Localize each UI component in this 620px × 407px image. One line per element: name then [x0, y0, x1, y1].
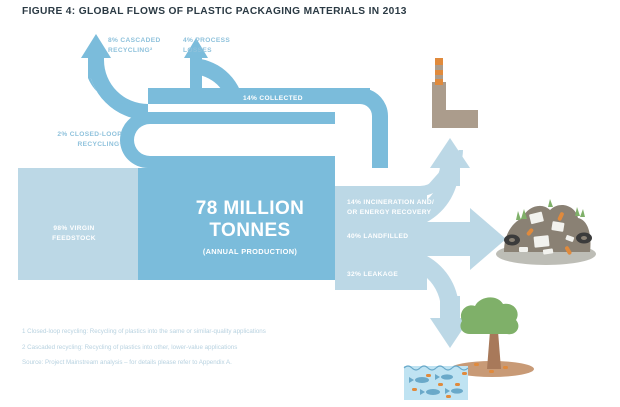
label-virgin-feedstock: 98% VIRGIN FEEDSTOCK [28, 224, 120, 243]
tree-icon [460, 297, 518, 369]
label-closed-loop-recycling: 2% CLOSED-LOOP RECYCLING¹ [22, 130, 122, 149]
figure-container: FIGURE 4: GLOBAL FLOWS OF PLASTIC PACKAG… [0, 0, 620, 407]
annual-production-label: 78 MILLION TONNES (ANNUAL PRODUCTION) [150, 198, 350, 256]
process-losses-connector [190, 80, 202, 88]
label-leakage: 32% LEAKAGE [347, 270, 398, 280]
footnote-1: 1 Closed-loop recycling: Recycling of pl… [22, 327, 292, 337]
footnote-source: Source: Project Mainstream analysis – fo… [22, 358, 292, 368]
factory-incinerator-icon [432, 58, 478, 128]
footnote-2: 2 Cascaded recycling: Recycling of plast… [22, 343, 292, 353]
production-headline: 78 MILLION TONNES [150, 198, 350, 242]
footnotes: 1 Closed-loop recycling: Recycling of pl… [22, 327, 292, 368]
label-collected-for-recycling: 14% COLLECTED FOR RECYCLING [243, 94, 303, 113]
closed-loop-recycling-flow [120, 112, 335, 168]
production-sublabel: (ANNUAL PRODUCTION) [150, 247, 350, 256]
landfill-pile-icon [496, 199, 596, 265]
incineration-stem [440, 160, 460, 186]
ocean-leakage-icon [404, 297, 534, 400]
label-cascaded-recycling: 8% CASCADED RECYCLING² [108, 36, 161, 55]
label-incineration: 14% INCINERATION AND/ OR ENERGY RECOVERY [347, 198, 434, 217]
label-landfilled: 40% LANDFILLED [347, 232, 408, 242]
cascaded-recycling-arrow [81, 34, 111, 78]
label-process-losses: 4% PROCESS LOSSES [183, 36, 230, 55]
